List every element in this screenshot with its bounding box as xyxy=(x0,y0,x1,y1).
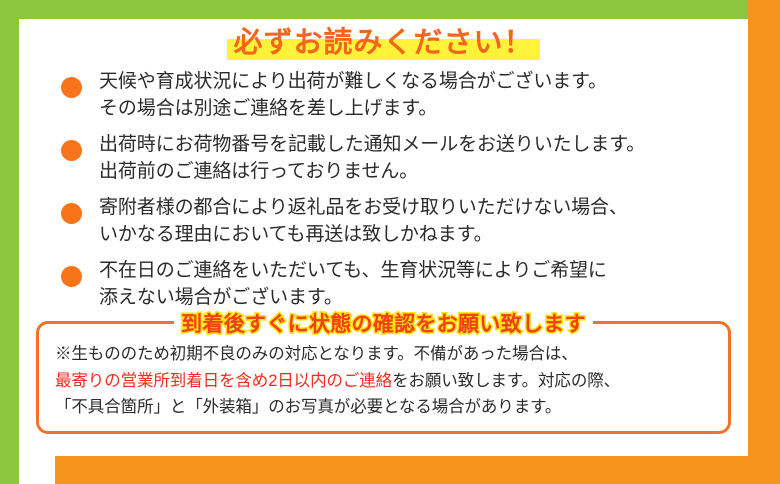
frame-border-left xyxy=(0,0,19,484)
list-item: 不在日のご連絡をいただいても、生育状況等によりご希望に 添えない場合がございます… xyxy=(61,258,748,312)
notice-card: 必ずお読みください！ 天候や育成状況により出荷が難しくなる場合がございます。 そ… xyxy=(0,0,780,484)
frame-border-bottom xyxy=(55,456,780,484)
list-item: 天候や育成状況により出荷が難しくなる場合がございます。 その場合は別途ご連絡を差… xyxy=(61,69,748,123)
list-item-line: 出荷時にお荷物番号を記載した通知メールをお送りいたします。 xyxy=(99,132,748,159)
list-item-line: 天候や育成状況により出荷が難しくなる場合がございます。 xyxy=(99,69,748,96)
list-item-line: その場合は別途ご連絡を差し上げます。 xyxy=(99,96,748,123)
arrival-check-section: 到着後すぐに状態の確認をお願い致します ※生もののため初期不良のみの対応となりま… xyxy=(36,321,731,434)
list-item-line: 出荷前のご連絡は行っておりません。 xyxy=(99,159,748,186)
notice-content: 必ずお読みください！ 天候や育成状況により出荷が難しくなる場合がございます。 そ… xyxy=(19,19,748,456)
bullet-dot-icon xyxy=(61,140,82,161)
notice-bullet-list: 天候や育成状況により出荷が難しくなる場合がございます。 その場合は別途ご連絡を差… xyxy=(19,69,748,312)
list-item-line: いかなる理由においても再送は致しかねます。 xyxy=(99,222,748,249)
headline-row: 必ずお読みください！ xyxy=(19,26,748,60)
bullet-dot-icon xyxy=(61,266,82,287)
list-item-line: 添えない場合がございます。 xyxy=(99,285,748,312)
list-item: 寄附者様の都合により返礼品をお受け取りいただけない場合、 いかなる理由においても… xyxy=(61,195,748,249)
arrival-check-line-3: 「不具合箇所」と「外装箱」のお写真が必要となる場合があります。 xyxy=(55,394,712,421)
arrival-check-line-1: ※生もののため初期不良のみの対応となります。不備があった場合は、 xyxy=(55,341,712,368)
frame-border-right xyxy=(748,0,780,484)
bullet-dot-icon xyxy=(61,203,82,224)
frame-border-top xyxy=(0,0,748,19)
arrival-check-box: ※生もののため初期不良のみの対応となります。不備があった場合は、 最寄りの営業所… xyxy=(36,321,731,434)
arrival-check-line-2: 最寄りの営業所到着日を含め2日以内のご連絡をお願い致します。対応の際、 xyxy=(55,368,712,395)
list-item: 出荷時にお荷物番号を記載した通知メールをお送りいたします。 出荷前のご連絡は行っ… xyxy=(61,132,748,186)
page-title: 必ずお読みください！ xyxy=(227,26,539,60)
arrival-check-emphasis: 最寄りの営業所到着日を含め2日以内のご連絡 xyxy=(55,372,392,390)
bullet-dot-icon xyxy=(61,77,82,98)
list-item-line: 不在日のご連絡をいただいても、生育状況等によりご希望に xyxy=(99,258,748,285)
arrival-check-line-2-rest: をお願い致します。対応の際、 xyxy=(392,372,620,390)
list-item-line: 寄附者様の都合により返礼品をお受け取りいただけない場合、 xyxy=(99,195,748,222)
